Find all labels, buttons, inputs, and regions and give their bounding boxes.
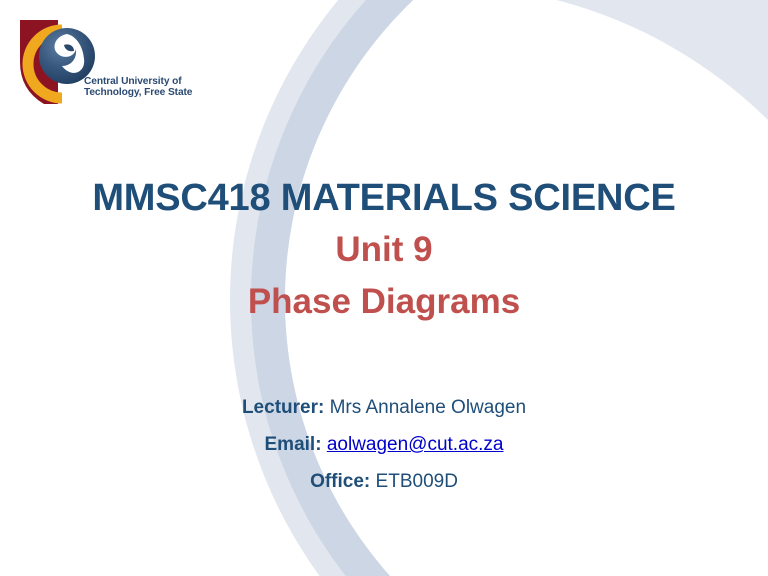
office-label: Office:	[310, 471, 370, 492]
slide-title-course: MMSC418 MATERIALS SCIENCE	[0, 178, 768, 219]
slide-title-topic: Phase Diagrams	[0, 283, 768, 322]
lecturer-value: Mrs Annalene Olwagen	[330, 397, 526, 418]
logo-wordmark-line1: Central University of	[84, 76, 216, 87]
university-logo: Central University of Technology, Free S…	[14, 16, 214, 116]
email-line: Email: aolwagen@cut.ac.za	[0, 433, 768, 457]
lecturer-label: Lecturer:	[242, 397, 324, 418]
slide-title-unit: Unit 9	[0, 231, 768, 270]
office-line: Office: ETB009D	[0, 470, 768, 494]
email-link[interactable]: aolwagen@cut.ac.za	[327, 434, 504, 455]
logo-wordmark-line2: Technology, Free State	[84, 87, 216, 98]
logo-wordmark: Central University of Technology, Free S…	[84, 76, 216, 99]
lecturer-line: Lecturer: Mrs Annalene Olwagen	[0, 396, 768, 420]
bg-upper-wedge	[320, 0, 768, 120]
email-label: Email:	[265, 434, 322, 455]
presentation-slide: Central University of Technology, Free S…	[0, 0, 768, 576]
office-value: ETB009D	[376, 471, 458, 492]
